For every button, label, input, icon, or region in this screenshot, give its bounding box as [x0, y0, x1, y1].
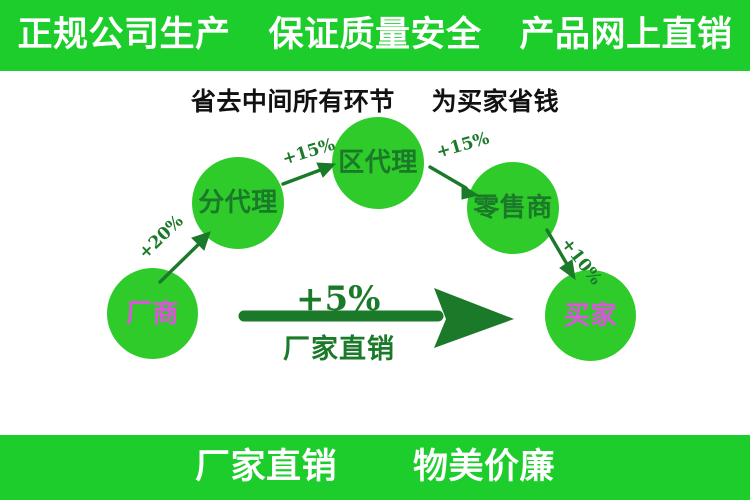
bottom-banner: 厂家直销 物美价廉 — [0, 435, 750, 500]
direct-channel-percent-label: +5% — [296, 282, 380, 316]
arrow-area-agent-to-retailer — [428, 163, 482, 201]
node-buyer-label: 买家 — [564, 303, 617, 329]
node-area-agent-label: 区代理 — [338, 150, 418, 176]
top-banner-text: 正规公司生产 保证质量安全 产品网上直销 — [17, 18, 732, 53]
top-banner: 正规公司生产 保证质量安全 产品网上直销 — [0, 0, 750, 71]
node-retailer-label: 零售商 — [473, 195, 553, 221]
subtitle-text: 省去中间所有环节 为买家省钱 — [0, 82, 750, 118]
bottom-banner-text: 厂家直销 物美价廉 — [195, 450, 555, 485]
node-manufacturer-label: 厂商 — [126, 301, 179, 327]
node-sub-agent-label: 分代理 — [198, 190, 278, 216]
direct-channel-caption: 厂家直销 — [283, 336, 395, 363]
node-area-agent: 区代理 — [332, 117, 424, 209]
step-label-area-agent-to-retailer: +15% — [435, 130, 492, 161]
promo-banner-image: 正规公司生产 保证质量安全 产品网上直销 省去中间所有环节 为买家省钱 厂商 分… — [0, 0, 750, 500]
